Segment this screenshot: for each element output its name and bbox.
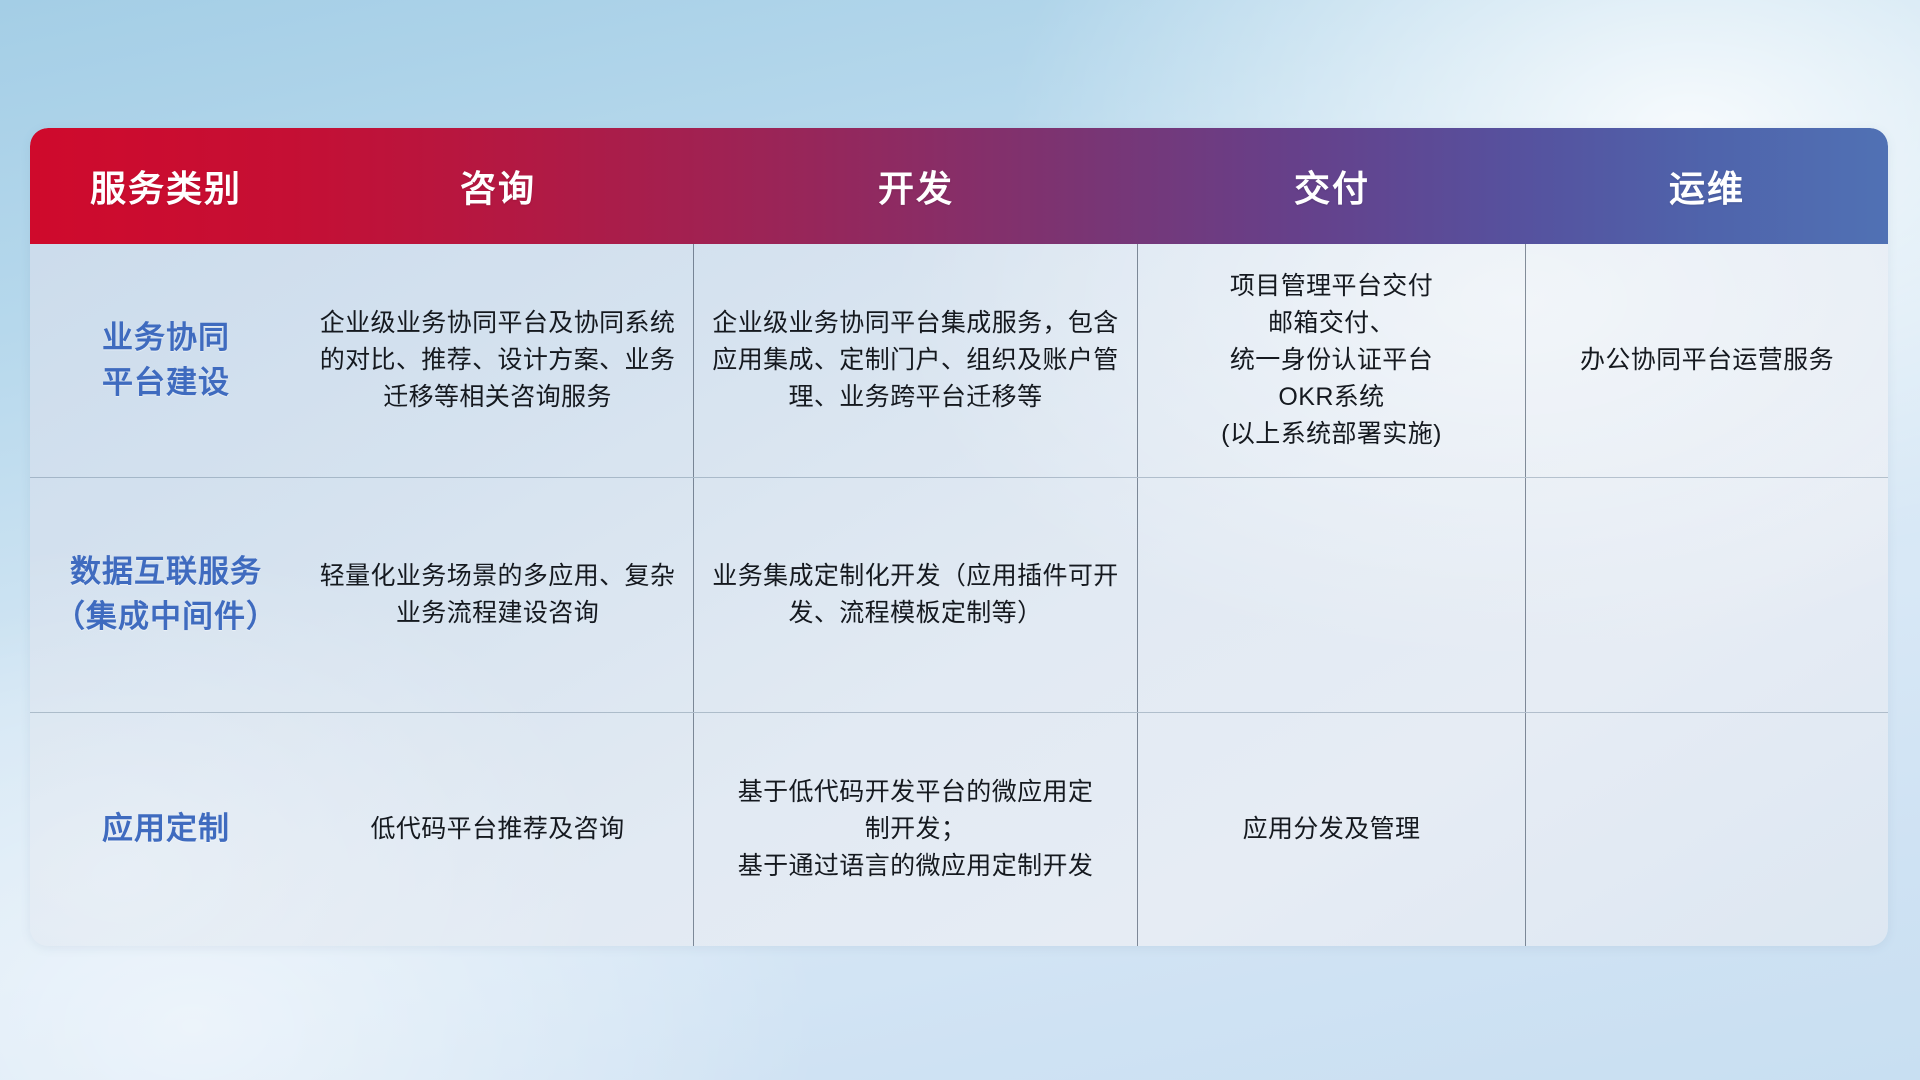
table-row: 数据互联服务 （集成中间件） 轻量化业务场景的多应用、复杂业务流程建设咨询 业务… — [30, 478, 1888, 712]
cell-line: 基于低代码开发平台的微应用定 — [738, 774, 1094, 811]
category-label: 业务协同 平台建设 — [102, 316, 230, 406]
column-header-category: 服务类别 — [30, 128, 302, 244]
table-row: 应用定制 低代码平台推荐及咨询 基于低代码开发平台的微应用定 制开发； 基于通过… — [30, 713, 1888, 946]
row-category-cell: 业务协同 平台建设 — [30, 244, 302, 477]
cell-development: 企业级业务协同平台集成服务，包含应用集成、定制门户、组织及账户管理、业务跨平台迁… — [694, 244, 1138, 477]
table-body: 业务协同 平台建设 企业级业务协同平台及协同系统的对比、推荐、设计方案、业务迁移… — [30, 244, 1888, 946]
cell-line: 邮箱交付、 — [1221, 305, 1442, 342]
cell-line: (以上系统部署实施) — [1221, 416, 1442, 453]
row-category-cell: 应用定制 — [30, 713, 302, 946]
cell-text: 项目管理平台交付 邮箱交付、 统一身份认证平台 OKR系统 (以上系统部署实施) — [1221, 268, 1442, 453]
cell-line: 统一身份认证平台 — [1221, 342, 1442, 379]
category-line: 应用定制 — [102, 807, 230, 852]
cell-consulting: 企业级业务协同平台及协同系统的对比、推荐、设计方案、业务迁移等相关咨询服务 — [302, 244, 694, 477]
cell-text: 应用分发及管理 — [1243, 811, 1421, 848]
row-category-cell: 数据互联服务 （集成中间件） — [30, 478, 302, 711]
table-header-row: 服务类别 咨询 开发 交付 运维 — [30, 128, 1888, 244]
cell-operations: 办公协同平台运营服务 — [1526, 244, 1888, 477]
cell-text: 企业级业务协同平台及协同系统的对比、推荐、设计方案、业务迁移等相关咨询服务 — [316, 305, 679, 416]
cell-text: 轻量化业务场景的多应用、复杂业务流程建设咨询 — [316, 558, 679, 632]
category-line: （集成中间件） — [54, 595, 278, 640]
table-row: 业务协同 平台建设 企业级业务协同平台及协同系统的对比、推荐、设计方案、业务迁移… — [30, 244, 1888, 478]
cell-development: 业务集成定制化开发（应用插件可开发、流程模板定制等） — [694, 478, 1138, 711]
cell-line: 基于通过语言的微应用定制开发 — [738, 848, 1094, 885]
cell-operations — [1526, 478, 1888, 711]
column-header-operations: 运维 — [1526, 128, 1888, 244]
cell-text: 基于低代码开发平台的微应用定 制开发； 基于通过语言的微应用定制开发 — [738, 774, 1094, 885]
cell-line: 制开发； — [738, 811, 1094, 848]
cell-text: 企业级业务协同平台集成服务，包含应用集成、定制门户、组织及账户管理、业务跨平台迁… — [708, 305, 1123, 416]
category-line: 业务协同 — [102, 316, 230, 361]
cell-text: 办公协同平台运营服务 — [1580, 342, 1834, 379]
cell-line: OKR系统 — [1221, 379, 1442, 416]
service-matrix-table: 服务类别 咨询 开发 交付 运维 业务协同 平台建设 企业级业务协同平台及协同系… — [30, 128, 1888, 946]
cell-consulting: 轻量化业务场景的多应用、复杂业务流程建设咨询 — [302, 478, 694, 711]
cell-delivery: 项目管理平台交付 邮箱交付、 统一身份认证平台 OKR系统 (以上系统部署实施) — [1138, 244, 1526, 477]
cell-delivery — [1138, 478, 1526, 711]
cell-line: 项目管理平台交付 — [1221, 268, 1442, 305]
cell-text: 业务集成定制化开发（应用插件可开发、流程模板定制等） — [708, 558, 1123, 632]
category-line: 数据互联服务 — [54, 550, 278, 595]
cell-consulting: 低代码平台推荐及咨询 — [302, 713, 694, 946]
column-header-development: 开发 — [694, 128, 1138, 244]
column-header-delivery: 交付 — [1138, 128, 1526, 244]
cell-text: 低代码平台推荐及咨询 — [370, 811, 624, 848]
category-label: 数据互联服务 （集成中间件） — [54, 550, 278, 640]
column-header-consulting: 咨询 — [302, 128, 694, 244]
cell-development: 基于低代码开发平台的微应用定 制开发； 基于通过语言的微应用定制开发 — [694, 713, 1138, 946]
category-line: 平台建设 — [102, 361, 230, 406]
cell-operations — [1526, 713, 1888, 946]
cell-delivery: 应用分发及管理 — [1138, 713, 1526, 946]
category-label: 应用定制 — [102, 807, 230, 852]
